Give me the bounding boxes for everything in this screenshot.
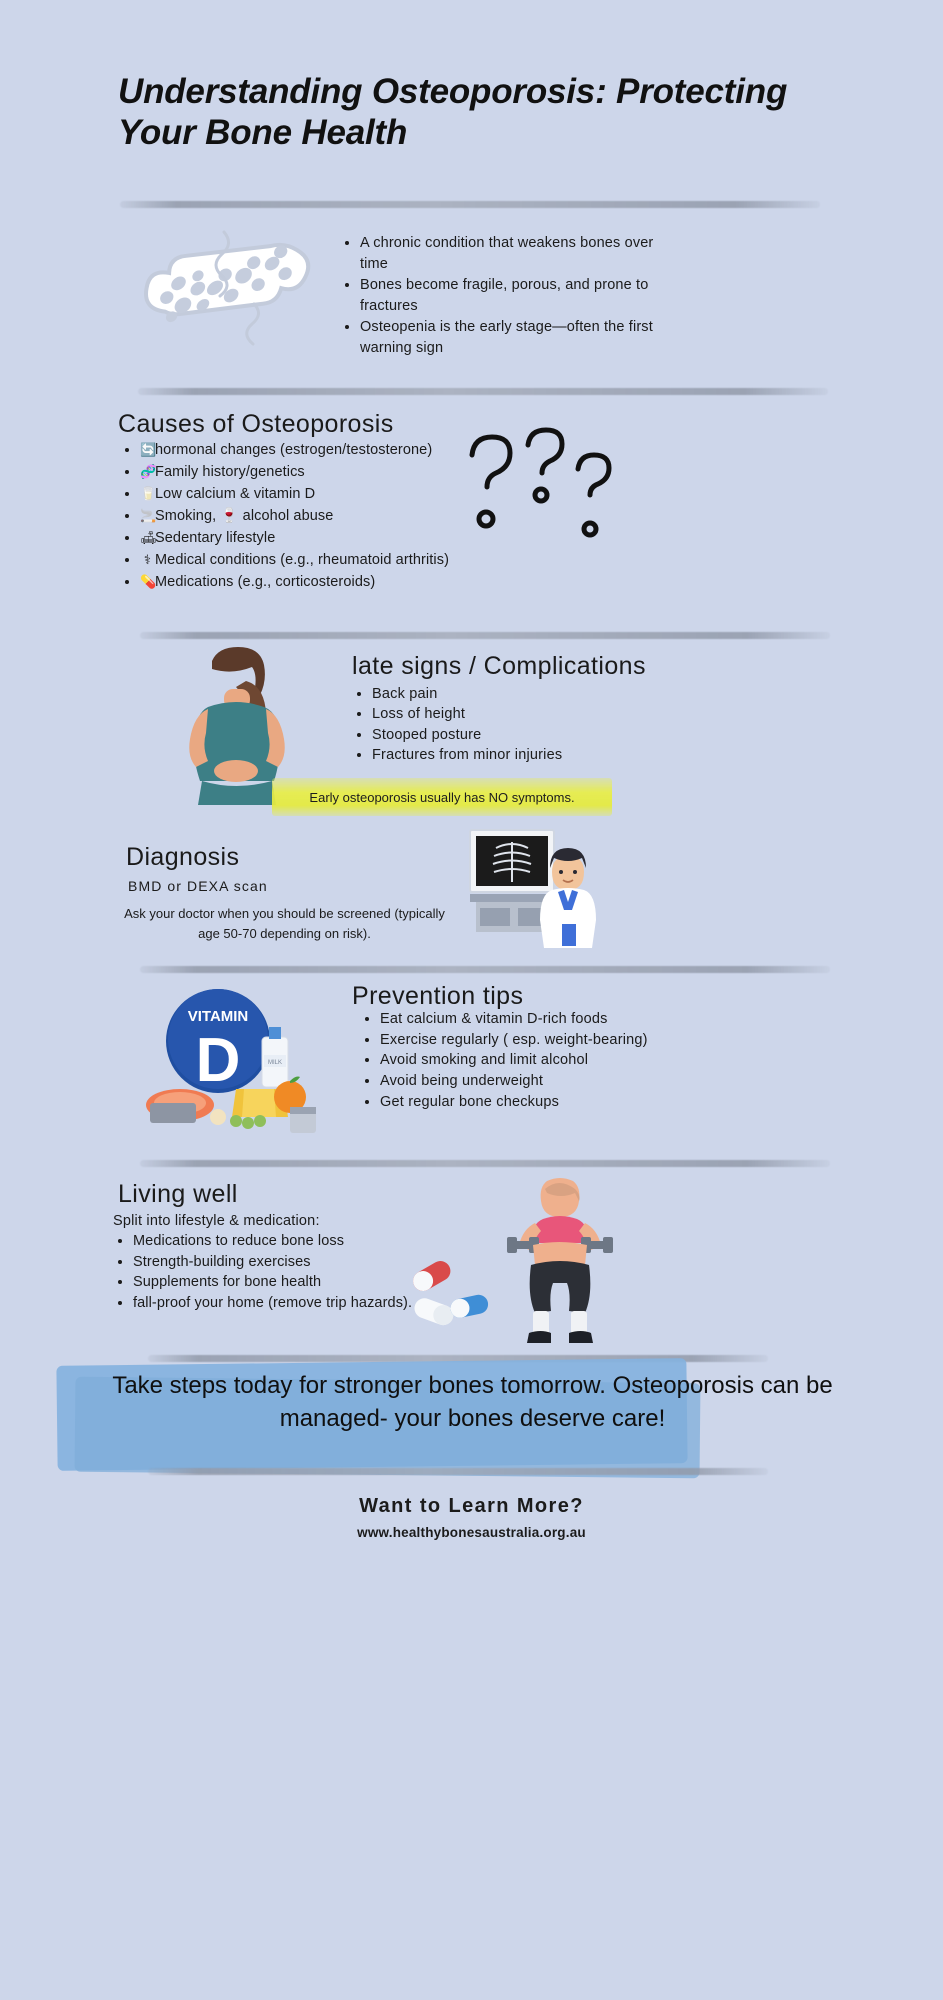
list-item: Avoid being underweight [380, 1072, 670, 1092]
diagnosis-note: Ask your doctor when you should be scree… [112, 904, 457, 943]
milk-glass-icon: 🥛 [140, 485, 155, 504]
divider-4 [140, 966, 830, 973]
diagnosis-heading: Diagnosis [126, 843, 239, 872]
cigarette-icon: 🚬 [140, 507, 155, 526]
list-item: Back pain [372, 685, 672, 704]
causes-heading: Causes of Osteoporosis [118, 410, 394, 439]
causes-bullets: 🔄hormonal changes (estrogen/testosterone… [120, 440, 460, 594]
diagnosis-subheading: BMD or DEXA scan [128, 878, 268, 894]
list-item: 🚬Smoking, 🍷 alcohol abuse [140, 506, 460, 527]
page-title: Understanding Osteoporosis: Protecting Y… [118, 72, 818, 154]
list-item: ⚕Medical conditions (e.g., rheumatoid ar… [140, 550, 460, 571]
vitamin-letter: D [196, 1026, 241, 1095]
list-item: Bones become fragile, porous, and prone … [360, 275, 670, 316]
divider-2 [138, 388, 828, 395]
prevention-bullets: Eat calcium & vitamin D-rich foods Exerc… [360, 1010, 670, 1114]
living-well-subheading: Split into lifestyle & medication: [113, 1213, 320, 1229]
list-item: Osteopenia is the early stage—often the … [360, 317, 670, 358]
pill-icon: 💊 [140, 573, 155, 592]
list-item: Exercise regularly ( esp. weight-bearing… [380, 1031, 670, 1051]
list-item: Supplements for bone health [133, 1273, 423, 1293]
divider-7 [148, 1468, 768, 1475]
list-item: Fractures from minor injuries [372, 746, 672, 765]
divider-3 [140, 632, 830, 639]
living-well-heading: Living well [118, 1180, 238, 1209]
couch-icon: 🛋 [140, 529, 155, 548]
vitamin-d-foods-illustration: VITAMIN D MILK [140, 985, 335, 1140]
highlight-note: Early osteoporosis usually has NO sympto… [272, 778, 612, 816]
intro-bullets: A chronic condition that weakens bones o… [340, 233, 670, 359]
medical-symbol-icon: ⚕ [140, 551, 155, 570]
late-signs-bullets: Back pain Loss of height Stooped posture… [352, 685, 672, 767]
late-signs-heading: late signs / Complications [352, 652, 646, 681]
refresh-icon: 🔄 [140, 441, 155, 460]
xray-doctor-illustration [466, 828, 596, 950]
list-item: Stooped posture [372, 726, 672, 745]
dna-icon: 🧬 [140, 463, 155, 482]
list-item: 🔄hormonal changes (estrogen/testosterone… [140, 440, 460, 461]
website-url-link[interactable]: www.healthybonesaustralia.org.au [0, 1525, 943, 1540]
prevention-heading: Prevention tips [352, 982, 523, 1011]
list-item: Get regular bone checkups [380, 1093, 670, 1113]
list-item: fall-proof your home (remove trip hazard… [133, 1294, 423, 1314]
list-item: 🛋Sedentary lifestyle [140, 528, 460, 549]
list-item: Strength-building exercises [133, 1253, 423, 1273]
learn-more-heading: Want to Learn More? [0, 1495, 943, 1518]
list-item: A chronic condition that weakens bones o… [360, 233, 670, 274]
infographic-page: Understanding Osteoporosis: Protecting Y… [0, 0, 943, 2000]
list-item: Avoid smoking and limit alcohol [380, 1051, 670, 1071]
exercise-woman-illustration [505, 1175, 615, 1355]
living-well-bullets: Medications to reduce bone loss Strength… [113, 1232, 423, 1315]
divider-5 [140, 1160, 830, 1167]
question-marks-illustration [450, 425, 630, 580]
list-item: Medications to reduce bone loss [133, 1232, 423, 1252]
pills-illustration [390, 1255, 500, 1335]
milk-label: MILK [268, 1060, 282, 1066]
list-item: 🥛Low calcium & vitamin D [140, 484, 460, 505]
bone-illustration [128, 218, 328, 378]
list-item: 🧬Family history/genetics [140, 462, 460, 483]
vitamin-label: VITAMIN [188, 1008, 249, 1025]
list-item: 💊Medications (e.g., corticosteroids) [140, 572, 460, 593]
list-item: Eat calcium & vitamin D-rich foods [380, 1010, 670, 1030]
cta-message: Take steps today for stronger bones tomo… [55, 1370, 890, 1435]
list-item: Loss of height [372, 705, 672, 724]
divider-1 [120, 201, 820, 208]
